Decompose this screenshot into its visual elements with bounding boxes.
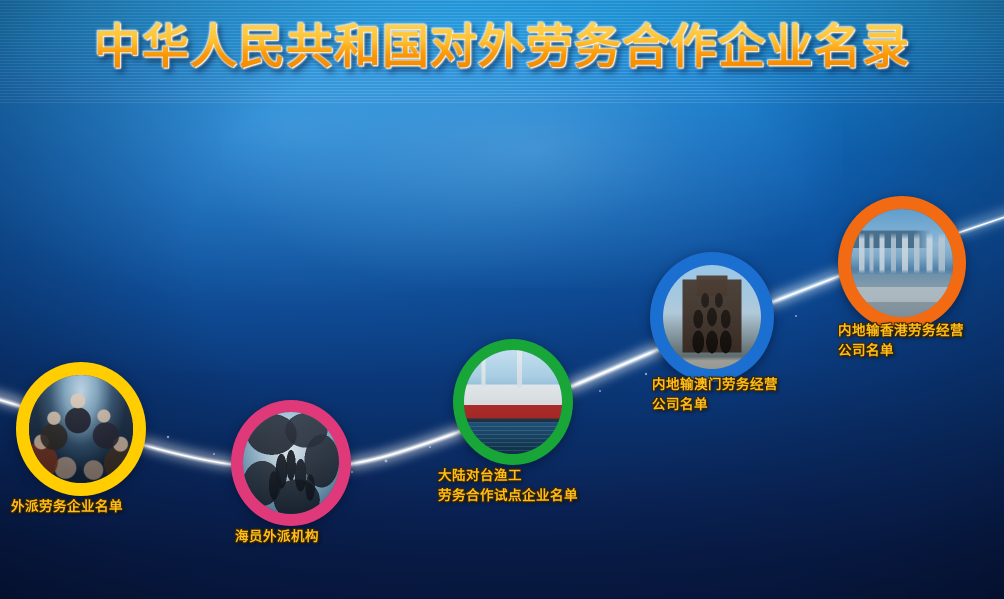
node-mainland-taiwan-fishermen-cooperation[interactable]: 大陆对台渔工 劳务合作试点企业名单 [453, 339, 573, 465]
ring-blue [650, 252, 774, 382]
banner-graphic: 中华人民共和国对外劳务合作企业名录 外派劳务企业名单 海员外派机构 [0, 0, 1004, 599]
node-overseas-labor-dispatch-companies[interactable]: 外派劳务企业名单 [16, 362, 146, 496]
ring-green [453, 339, 573, 465]
ring-pink [231, 400, 351, 526]
photo-ruins-of-st-pauls [663, 265, 761, 369]
caption-mainland-to-macau-labor-companies: 内地输澳门劳务经营 公司名单 [652, 376, 778, 416]
ring-orange [838, 196, 966, 330]
node-seafarer-dispatch-agencies[interactable]: 海员外派机构 [231, 400, 351, 526]
photo-business-meeting [29, 375, 133, 483]
photo-fishing-vessel [464, 350, 562, 454]
node-mainland-to-hongkong-labor-companies[interactable]: 内地输香港劳务经营 公司名单 [838, 196, 966, 330]
photo-hands-over-globe [243, 412, 339, 514]
caption-mainland-taiwan-fishermen-cooperation: 大陆对台渔工 劳务合作试点企业名单 [438, 467, 578, 507]
page-title: 中华人民共和国对外劳务合作企业名录 [0, 22, 1004, 75]
photo-hong-kong-skyline [851, 209, 953, 317]
caption-overseas-labor-dispatch-companies: 外派劳务企业名单 [11, 498, 123, 518]
caption-mainland-to-hongkong-labor-companies: 内地输香港劳务经营 公司名单 [838, 322, 964, 362]
node-mainland-to-macau-labor-companies[interactable]: 内地输澳门劳务经营 公司名单 [650, 252, 774, 382]
ring-yellow [16, 362, 146, 496]
caption-seafarer-dispatch-agencies: 海员外派机构 [235, 528, 319, 548]
